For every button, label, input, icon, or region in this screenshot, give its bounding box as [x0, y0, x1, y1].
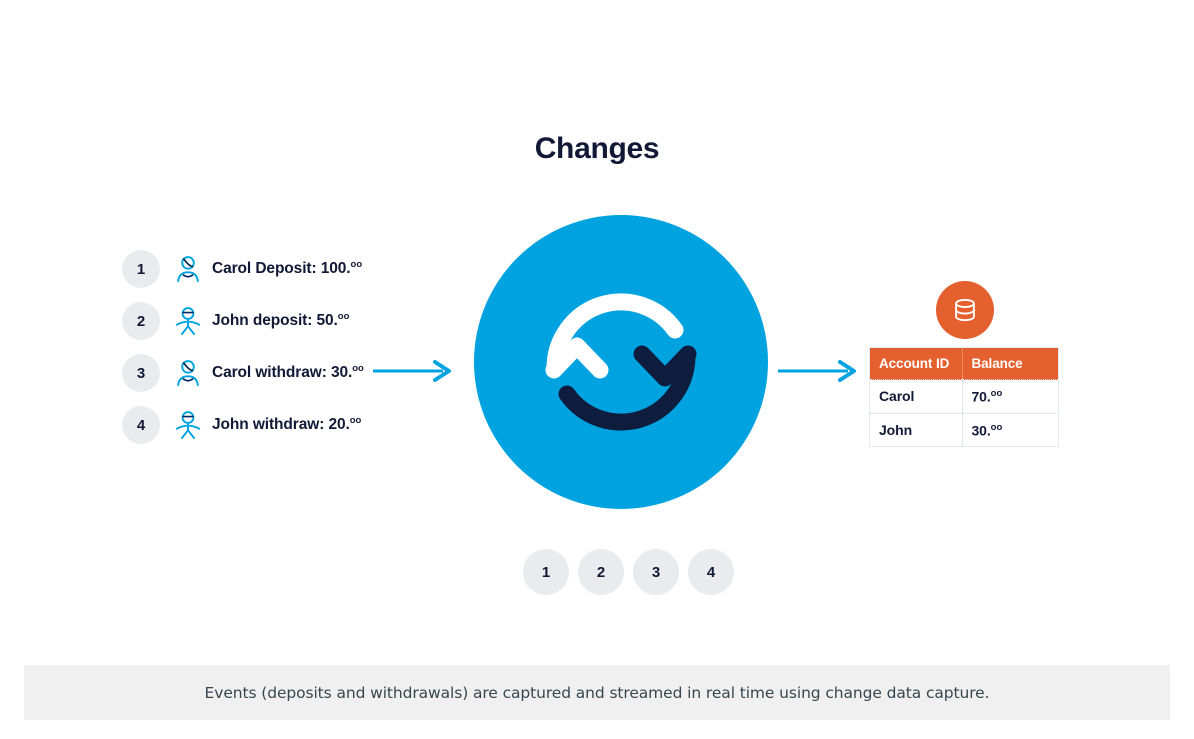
cell-account-id: John — [870, 413, 962, 446]
event-list: 1 Carol Deposit: 100.oo 2 — [122, 243, 452, 451]
figure-canvas: Changes 1 Carol Deposit: 100.oo 2 — [24, 25, 1178, 665]
cents-superscript: oo — [991, 422, 1003, 433]
column-header-balance: Balance — [962, 348, 1058, 380]
page-title: Changes — [24, 132, 1170, 166]
pagination-item-3[interactable]: 3 — [633, 549, 679, 595]
event-number-badge: 3 — [122, 354, 160, 392]
table-row: John 30.oo — [870, 413, 1058, 446]
person-long-hair-icon — [173, 358, 203, 388]
arrow-right-icon — [371, 358, 455, 384]
pagination-item-2[interactable]: 2 — [578, 549, 624, 595]
list-item[interactable]: 1 Carol Deposit: 100.oo — [122, 243, 452, 295]
arrow-right-icon — [776, 358, 860, 384]
person-stick-figure-icon — [173, 306, 203, 336]
pagination: 1 2 3 4 — [523, 549, 734, 595]
event-label: John withdraw: 20.oo — [212, 415, 361, 434]
list-item[interactable]: 2 John deposit: 50.oo — [122, 295, 452, 347]
cents-superscript: oo — [991, 388, 1003, 399]
event-number-badge: 2 — [122, 302, 160, 340]
database-cylinder-icon — [950, 295, 980, 325]
sync-circular-arrows-icon — [531, 272, 711, 452]
pagination-item-1[interactable]: 1 — [523, 549, 569, 595]
event-label: Carol Deposit: 100.oo — [212, 259, 362, 278]
event-number-badge: 4 — [122, 406, 160, 444]
pagination-item-4[interactable]: 4 — [688, 549, 734, 595]
cell-balance: 30.oo — [962, 413, 1058, 446]
cents-superscript: oo — [352, 363, 364, 374]
figure-frame: Changes 1 Carol Deposit: 100.oo 2 — [24, 25, 1170, 720]
cents-superscript: oo — [338, 311, 350, 322]
list-item[interactable]: 4 John withdraw: 20.oo — [122, 399, 452, 451]
event-number-badge: 1 — [122, 250, 160, 288]
cell-account-id: Carol — [870, 380, 962, 414]
column-header-account-id: Account ID — [870, 348, 962, 380]
cell-balance: 70.oo — [962, 380, 1058, 414]
process-circle — [474, 215, 768, 509]
figure-caption: Events (deposits and withdrawals) are ca… — [24, 665, 1170, 720]
cents-superscript: oo — [351, 259, 363, 270]
balance-table: Account ID Balance Carol 70.oo John 30.o… — [870, 348, 1058, 446]
event-label: Carol withdraw: 30.oo — [212, 363, 364, 382]
table-row: Carol 70.oo — [870, 380, 1058, 414]
person-stick-figure-icon — [173, 410, 203, 440]
event-label: John deposit: 50.oo — [212, 311, 349, 330]
cents-superscript: oo — [350, 415, 362, 426]
database-badge — [936, 281, 994, 339]
table-header-row: Account ID Balance — [870, 348, 1058, 380]
person-long-hair-icon — [173, 254, 203, 284]
